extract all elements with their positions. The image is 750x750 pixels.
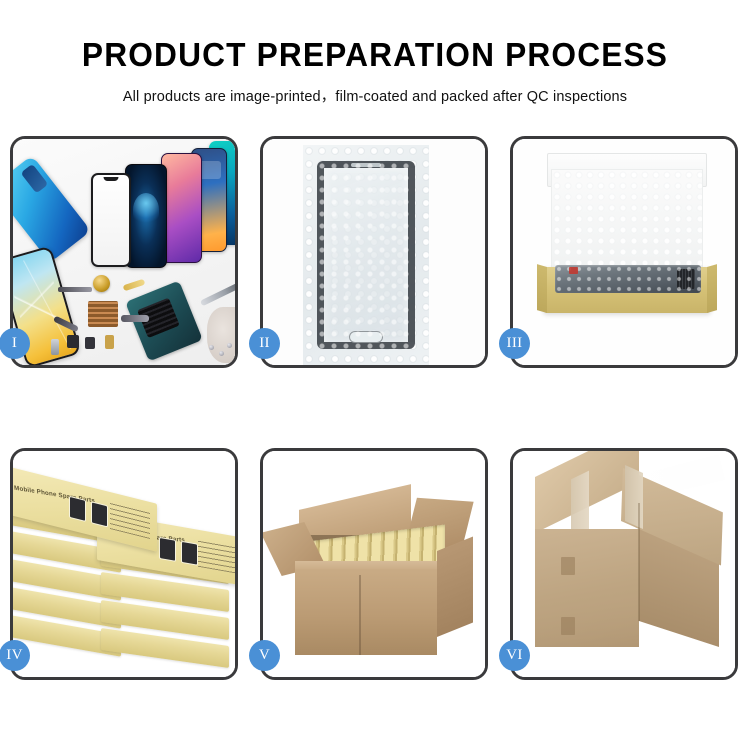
process-step-panel-5[interactable]: V bbox=[260, 448, 488, 680]
step-badge-5: V bbox=[249, 640, 280, 671]
page-subtitle: All products are image-printed，film-coat… bbox=[0, 85, 750, 106]
small-part-c bbox=[105, 335, 114, 349]
purple-gradient-phone bbox=[161, 153, 202, 263]
step-badge-3: III bbox=[499, 328, 530, 359]
step-badge-2: II bbox=[249, 328, 280, 359]
process-step-panel-1[interactable]: I bbox=[10, 136, 238, 368]
lid-spec-lines-front bbox=[198, 539, 235, 574]
step-badge-6: VI bbox=[499, 640, 530, 671]
process-step-panel-4[interactable]: Mobile Phone Spare Parts Mobile Phone Sp… bbox=[10, 448, 238, 680]
box-stack: Mobile Phone Spare Parts Mobile Phone Sp… bbox=[13, 469, 235, 669]
gold-coil-part bbox=[93, 275, 110, 292]
process-step-panel-6[interactable]: VI bbox=[510, 448, 738, 680]
sealed-carton-edge bbox=[638, 503, 640, 621]
red-quality-mark bbox=[569, 267, 578, 274]
step-1-image bbox=[13, 139, 235, 365]
earpiece-slot bbox=[351, 163, 381, 167]
carton-marking-top bbox=[561, 557, 575, 575]
process-step-panel-2[interactable]: II bbox=[260, 136, 488, 368]
chip-grid-part bbox=[88, 301, 118, 327]
process-step-panel-3[interactable]: III bbox=[510, 136, 738, 368]
lid-phone-graphic-back-1 bbox=[69, 496, 86, 522]
lid-spec-lines-back bbox=[110, 501, 150, 539]
carton-marking-bottom bbox=[561, 617, 575, 635]
header: PRODUCT PREPARATION PROCESS All products… bbox=[0, 0, 750, 106]
foam-padding bbox=[551, 169, 703, 274]
carton-front-seam bbox=[359, 575, 361, 655]
white-screen-phone bbox=[91, 173, 131, 267]
screw-3 bbox=[227, 343, 232, 348]
lid-phone-graphic-back-2 bbox=[91, 501, 108, 527]
home-button-slot bbox=[349, 331, 383, 343]
flex-cable-part-1 bbox=[58, 287, 92, 292]
product-preparation-infographic: PRODUCT PREPARATION PROCESS All products… bbox=[0, 0, 750, 750]
carton-front-face bbox=[295, 569, 437, 655]
page-title: PRODUCT PREPARATION PROCESS bbox=[15, 36, 735, 74]
bubble-wrap-sheet bbox=[303, 145, 429, 365]
carton-right-face bbox=[437, 536, 473, 637]
small-part-a bbox=[67, 335, 79, 348]
step-5-image bbox=[263, 451, 485, 677]
packing-tape-right bbox=[625, 465, 643, 529]
step-badge-1: I bbox=[0, 328, 30, 359]
process-step-grid: I II bbox=[10, 136, 743, 680]
sealed-carton-front-face bbox=[535, 529, 639, 647]
flex-cable-part-4 bbox=[121, 315, 149, 322]
step-badge-4: IV bbox=[0, 640, 30, 671]
small-part-b bbox=[85, 337, 95, 349]
dark-wallpaper-phone bbox=[125, 164, 167, 268]
step-2-image bbox=[263, 139, 485, 365]
screw-1 bbox=[209, 345, 214, 350]
screw-2 bbox=[219, 351, 224, 356]
phone-screen-glass bbox=[317, 161, 415, 349]
screen-connector bbox=[677, 269, 695, 289]
lid-phone-graphic-front-1 bbox=[159, 537, 176, 562]
step-3-image bbox=[513, 139, 735, 365]
lid-phone-graphic-front-2 bbox=[181, 541, 198, 566]
step-6-image bbox=[513, 451, 735, 677]
step-4-image: Mobile Phone Spare Parts Mobile Phone Sp… bbox=[13, 451, 235, 677]
small-part-d bbox=[51, 339, 59, 355]
